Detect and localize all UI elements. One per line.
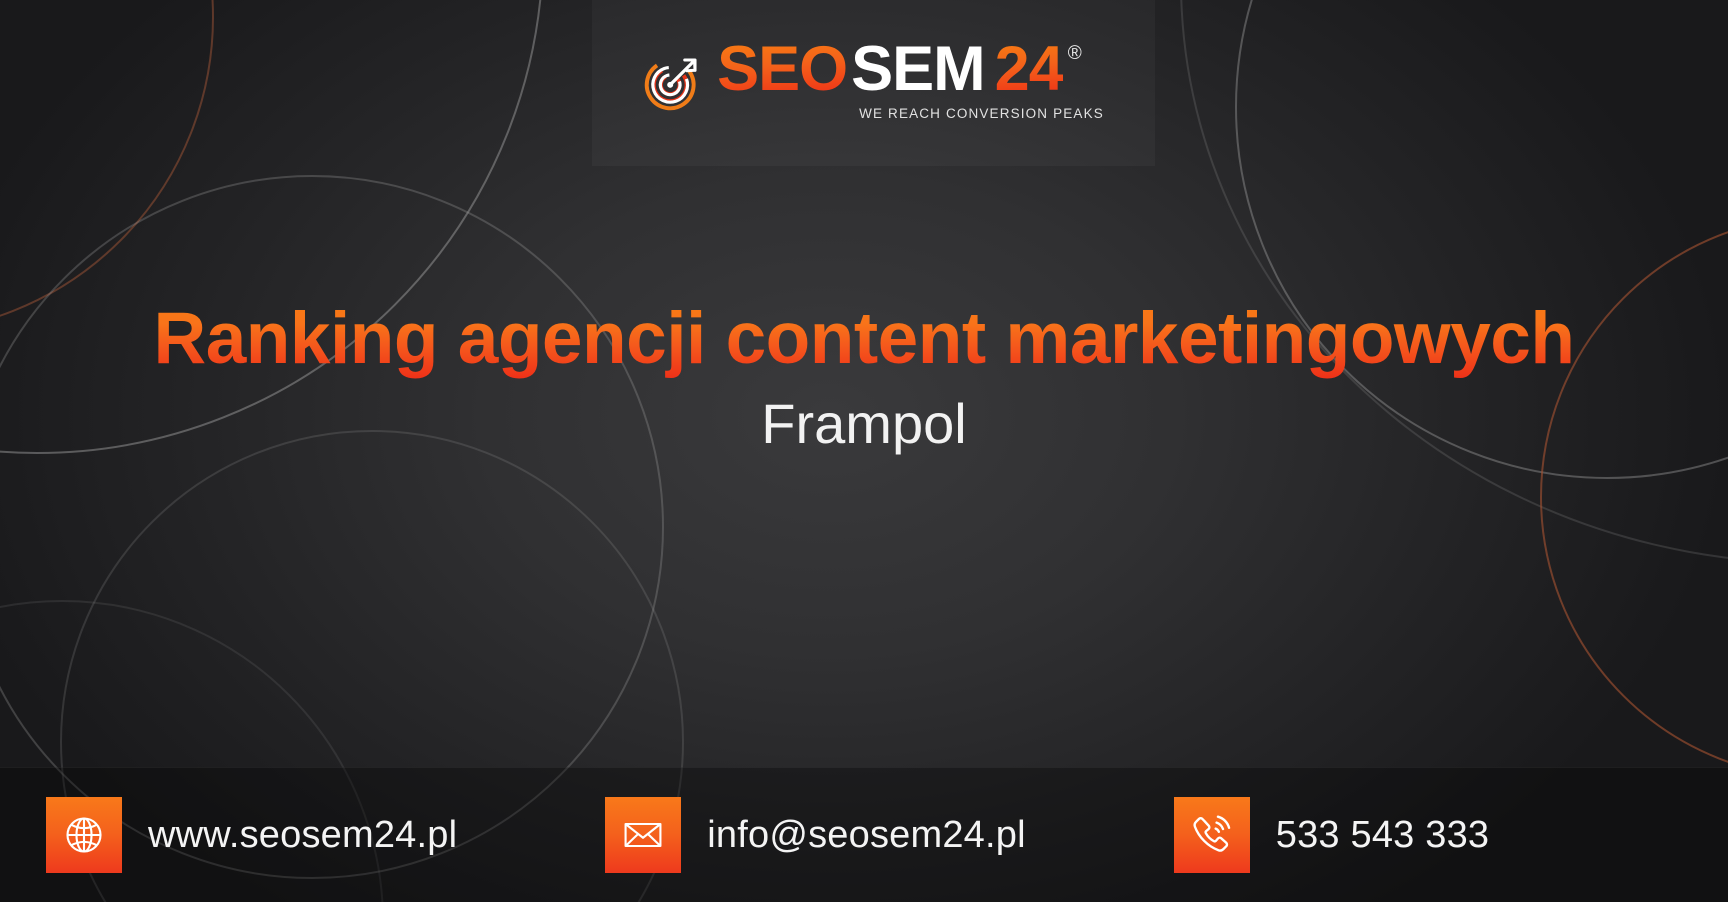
decorative-circle-arc bbox=[0, 0, 214, 334]
page-title: Ranking agencji content marketingowych bbox=[0, 300, 1728, 379]
banner-canvas: SEO SEM 24 ® WE REACH CONVERSION PEAKS R… bbox=[0, 0, 1728, 902]
website-label: www.seosem24.pl bbox=[148, 814, 457, 857]
logo-tagline: WE REACH CONVERSION PEAKS bbox=[859, 106, 1104, 121]
envelope-icon bbox=[605, 797, 681, 873]
contact-phone[interactable]: 533 543 333 bbox=[1174, 768, 1490, 902]
logo-wordmark: SEO SEM 24 ® WE REACH CONVERSION PEAKS bbox=[717, 38, 1104, 121]
logo-panel: SEO SEM 24 ® WE REACH CONVERSION PEAKS bbox=[592, 0, 1155, 166]
hero-text-block: Ranking agencji content marketingowych F… bbox=[0, 300, 1728, 454]
logo-text-24: 24 bbox=[995, 38, 1063, 101]
decorative-circle-arc bbox=[1180, 0, 1728, 564]
page-subtitle: Frampol bbox=[0, 395, 1728, 454]
email-label: info@seosem24.pl bbox=[707, 814, 1026, 857]
target-dart-icon bbox=[643, 52, 703, 112]
contact-website[interactable]: www.seosem24.pl bbox=[46, 768, 457, 902]
globe-icon bbox=[46, 797, 122, 873]
logo-text-sem: SEM bbox=[851, 38, 985, 101]
contact-email[interactable]: info@seosem24.pl bbox=[605, 768, 1026, 902]
brand-logo: SEO SEM 24 ® WE REACH CONVERSION PEAKS bbox=[643, 38, 1104, 121]
logo-text-seo: SEO bbox=[717, 38, 847, 101]
phone-icon bbox=[1174, 797, 1250, 873]
footer-contact-bar: www.seosem24.pl info@seosem24.pl bbox=[0, 767, 1728, 902]
registered-trademark-icon: ® bbox=[1068, 44, 1082, 63]
phone-label: 533 543 333 bbox=[1276, 814, 1490, 857]
